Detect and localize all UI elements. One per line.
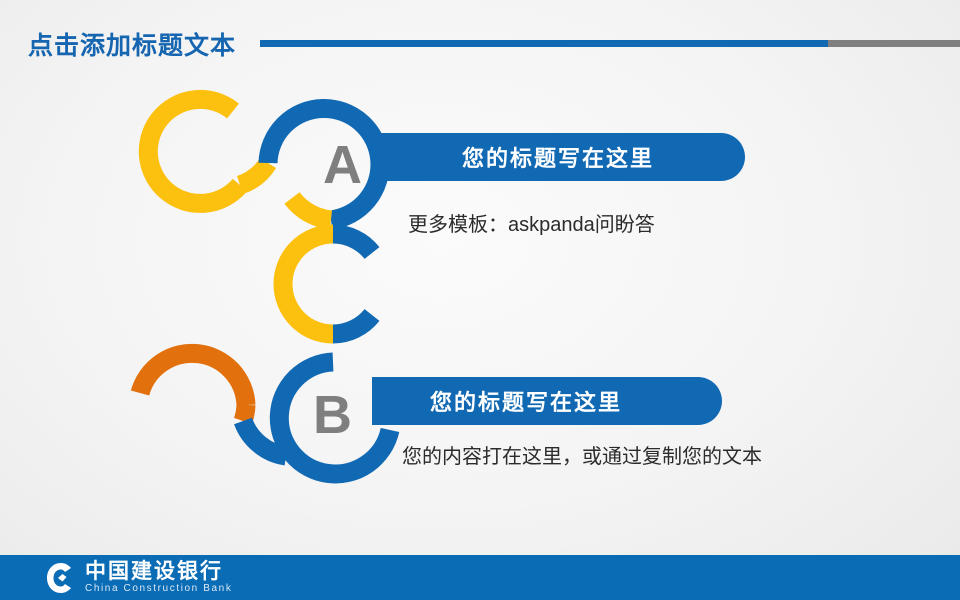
ring-orange-bottom-tail <box>243 405 246 421</box>
bank-name-en: China Construction Bank <box>85 584 232 594</box>
section-b-title-banner[interactable]: 您的标题写在这里 <box>372 377 722 425</box>
page-title: 点击添加标题文本 <box>28 26 236 62</box>
footer-bar: 中国建设银行 China Construction Bank <box>0 555 960 600</box>
section-a-title-banner[interactable]: 您的标题写在这里 <box>380 133 745 181</box>
header-rule-gray <box>828 40 960 47</box>
ring-yellow-top-hook <box>240 163 268 185</box>
ccb-logo-icon <box>46 562 76 594</box>
ring-yellow-middle <box>283 234 333 334</box>
section-b-letter: B <box>313 388 352 442</box>
ring-blue-middle-top-cap <box>333 234 372 253</box>
header-rule-blue <box>260 40 828 47</box>
ring-yellow-a-join <box>292 198 331 220</box>
section-b-body-text: 您的内容打在这里，或通过复制您的文本 <box>402 440 762 469</box>
section-a-body-text: 更多模板：askpanda问盼答 <box>408 208 655 237</box>
section-a-title-label: 您的标题写在这里 <box>462 141 654 173</box>
ring-orange-bottom <box>140 353 246 405</box>
ring-yellow-top <box>148 99 240 203</box>
section-a-letter: A <box>323 138 362 192</box>
ring-chain-graphic <box>0 0 960 600</box>
ring-blue-bottom-left <box>243 421 286 456</box>
ring-blue-middle-bottom-cap <box>333 315 372 334</box>
slide-canvas: 点击添加标题文本 <box>0 0 960 600</box>
bank-name-cn: 中国建设银行 <box>85 561 232 582</box>
ccb-logo-text: 中国建设银行 China Construction Bank <box>85 561 232 594</box>
section-b-title-label: 您的标题写在这里 <box>430 385 622 417</box>
